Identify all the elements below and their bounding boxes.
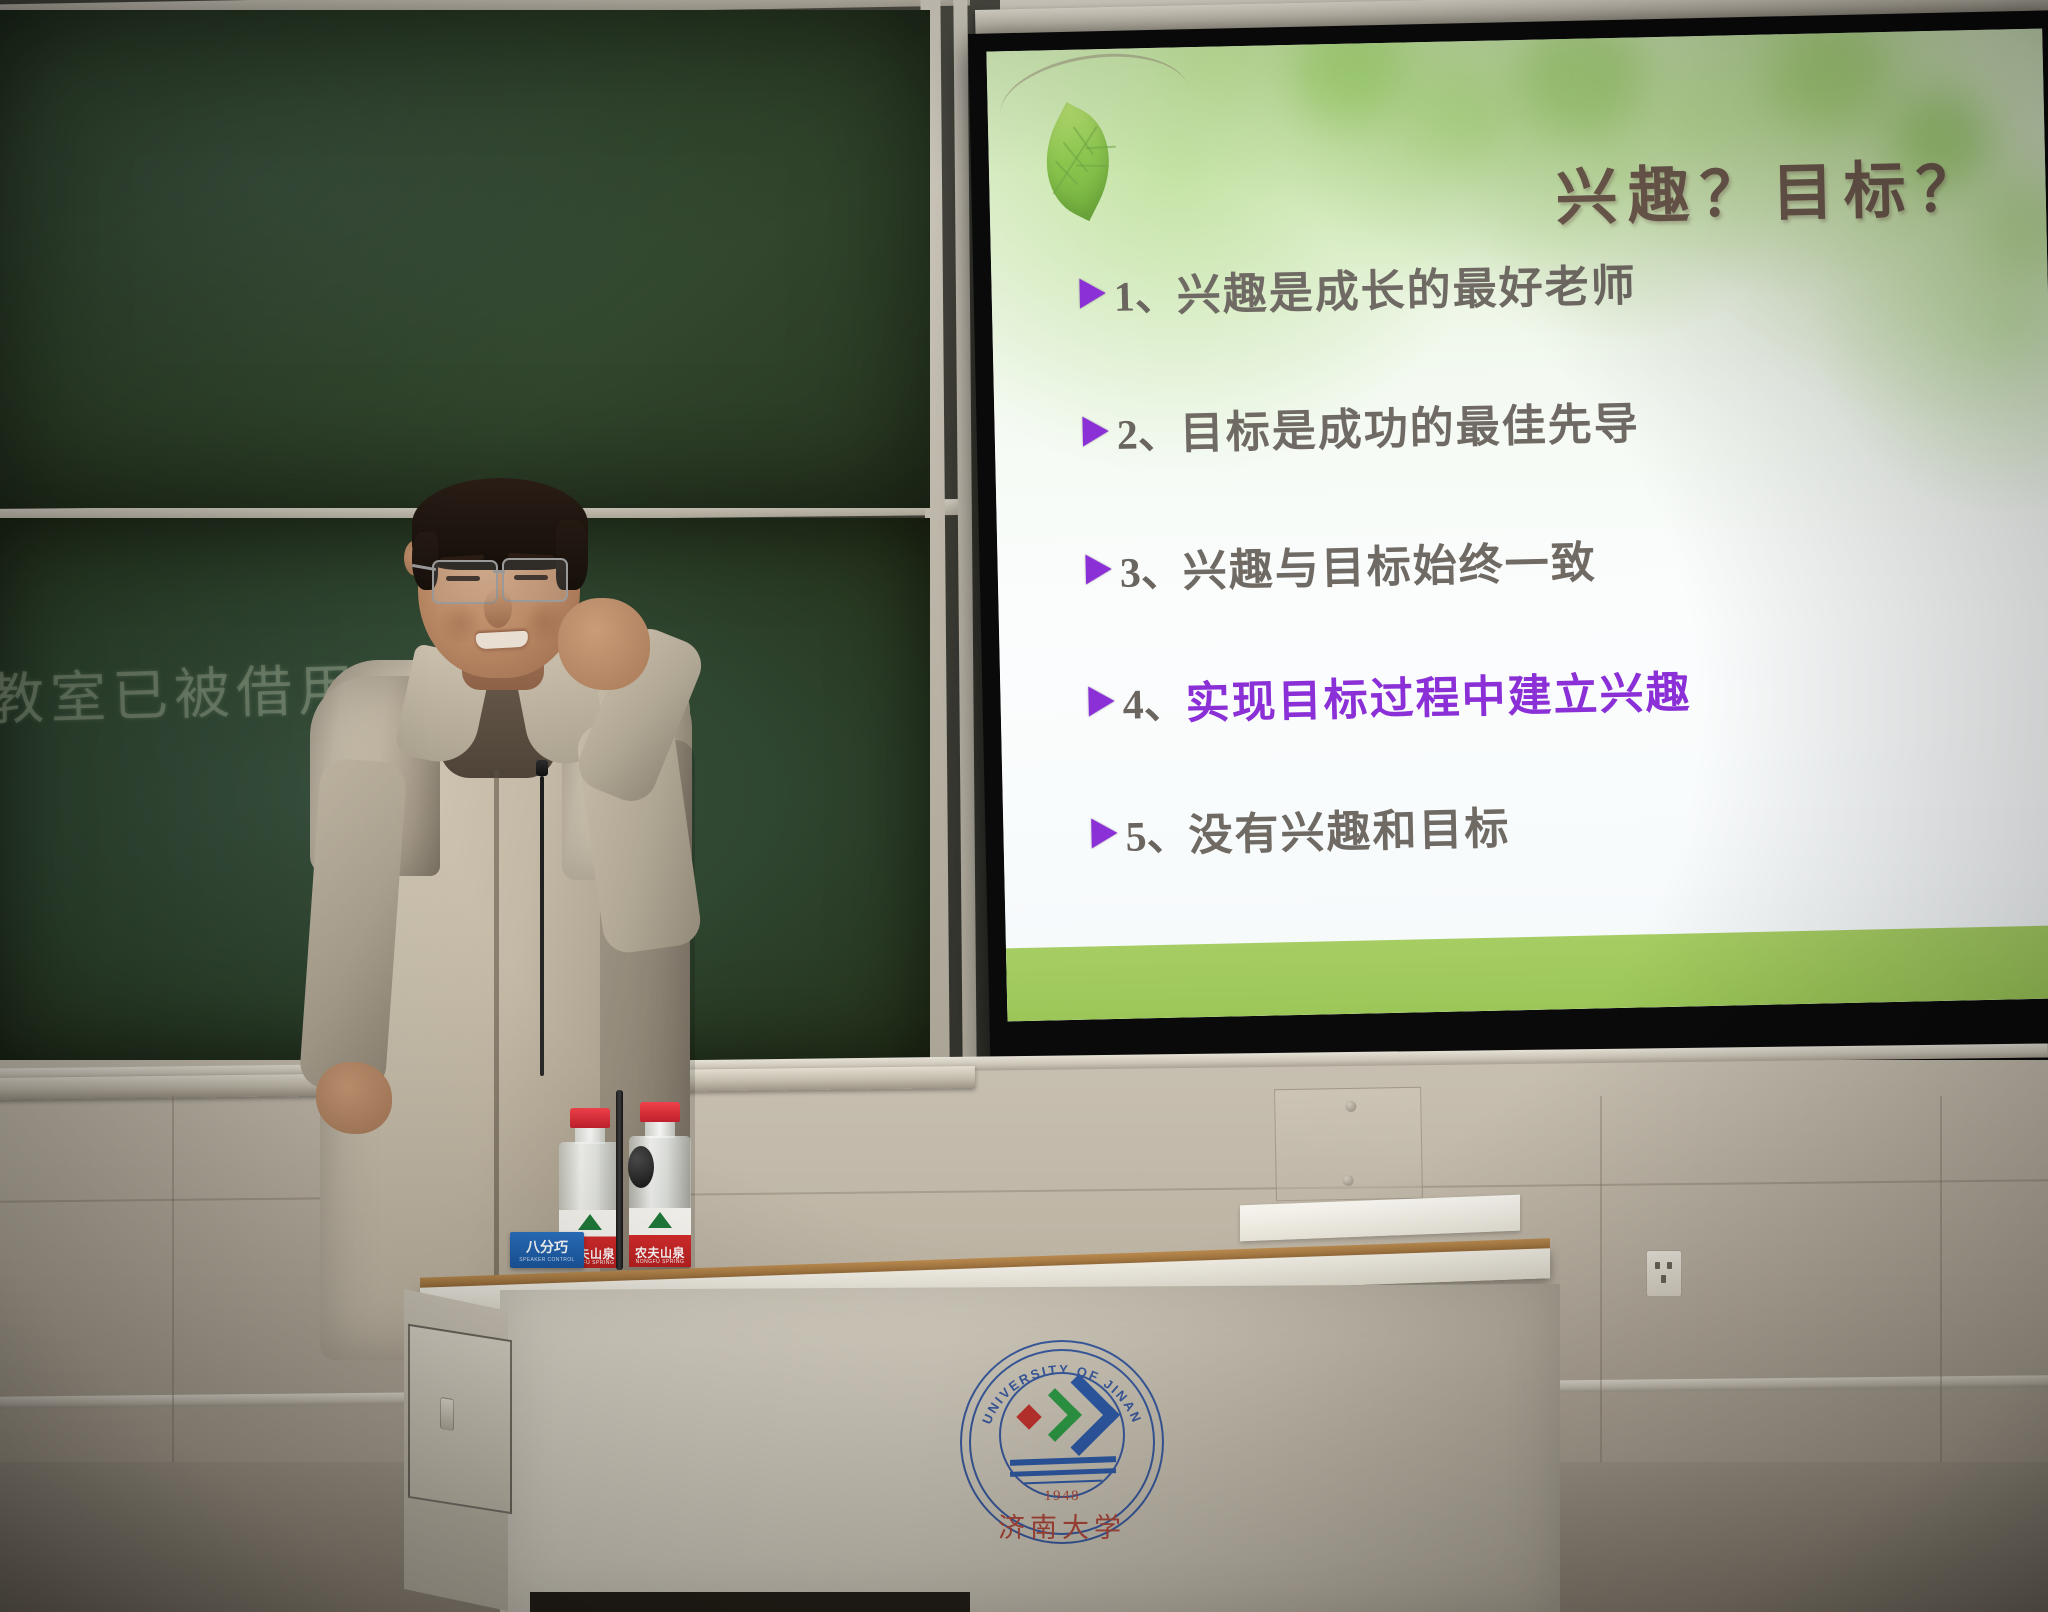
slide-bullet-1: 1、 兴趣是成长的最好老师 bbox=[1079, 249, 1637, 325]
bullet-label: 目标是成功的最佳先导 bbox=[1179, 387, 1640, 461]
placard-text-cn: 八分巧 bbox=[526, 1237, 568, 1257]
slide-bullet-3: 3、 兴趣与目标始终一致 bbox=[1085, 526, 1597, 601]
outlet-slot bbox=[1661, 1275, 1666, 1283]
bottle-cap bbox=[570, 1108, 610, 1128]
microphone-head-icon bbox=[628, 1146, 654, 1188]
presentation-slide: 兴趣？目标？ 1、 兴趣是成长的最好老师 2、 目标是成功的最佳先导 3、 兴趣… bbox=[986, 29, 2048, 1022]
bullet-label: 兴趣与目标始终一致 bbox=[1182, 526, 1597, 599]
slide-bottom-band bbox=[1006, 926, 2048, 1022]
emblem-year: 1948 bbox=[962, 1488, 1162, 1505]
arrow-bullet-icon bbox=[1079, 278, 1106, 309]
microphone-stand bbox=[616, 1090, 623, 1270]
bokeh-blob bbox=[1516, 29, 1649, 140]
arrow-bullet-icon bbox=[1085, 554, 1112, 585]
slide-title: 兴趣？目标？ bbox=[1555, 138, 1989, 237]
bullet-number: 1、 bbox=[1113, 261, 1177, 323]
glasses-lens-right bbox=[502, 558, 568, 602]
panel-handle[interactable] bbox=[440, 1397, 454, 1431]
bullet-number: 5、 bbox=[1125, 801, 1189, 863]
bullet-label-highlighted: 实现目标过程中建立兴趣 bbox=[1185, 656, 1692, 731]
leaf-vein bbox=[1055, 160, 1078, 184]
arrow-bullet-icon bbox=[1091, 818, 1118, 849]
bottle-brand-en: NONGFU SPRING bbox=[636, 1259, 685, 1265]
bullet-label: 没有兴趣和目标 bbox=[1188, 792, 1511, 863]
leaf-vein bbox=[1086, 146, 1116, 149]
leaf-vein bbox=[1073, 127, 1094, 156]
bokeh-blob bbox=[1286, 29, 1408, 125]
mountain-logo-icon bbox=[648, 1212, 672, 1228]
slide-bullet-2: 2、 目标是成功的最佳先导 bbox=[1082, 387, 1640, 463]
arrow-bullet-icon bbox=[1082, 416, 1109, 447]
wall-power-outlet[interactable] bbox=[1646, 1250, 1682, 1297]
microphone-wire bbox=[540, 776, 544, 1076]
projection-screen-surface: 兴趣？目标？ 1、 兴趣是成长的最好老师 2、 目标是成功的最佳先导 3、 兴趣… bbox=[986, 29, 2048, 1022]
outlet-slot bbox=[1655, 1262, 1660, 1269]
presenter-nose bbox=[484, 588, 512, 628]
classroom-scene: 教室已被借用 bbox=[0, 0, 2048, 1612]
placard-text-en: SPEAKER CONTROL bbox=[519, 1257, 574, 1263]
wall-access-panel bbox=[1274, 1087, 1423, 1202]
blackboard-upper-panel bbox=[0, 10, 930, 508]
podium-side-access-panel[interactable] bbox=[408, 1324, 512, 1514]
panel-screw bbox=[1345, 1101, 1356, 1112]
bokeh-blob bbox=[1776, 29, 1893, 130]
bottle-brand-cn: 农夫山泉 bbox=[635, 1247, 685, 1259]
glasses-bridge bbox=[493, 570, 505, 573]
podium-lower-slot bbox=[530, 1592, 970, 1612]
panel-screw bbox=[1343, 1175, 1354, 1186]
arrow-bullet-icon bbox=[1088, 686, 1115, 717]
university-emblem: UNIVERSITY OF JINAN 1948 济南大学 bbox=[960, 1340, 1164, 1544]
lapel-microphone-icon bbox=[536, 760, 548, 776]
mountain-logo-icon bbox=[578, 1214, 602, 1230]
bullet-label: 兴趣是成长的最好老师 bbox=[1176, 249, 1637, 323]
bullet-number: 2、 bbox=[1116, 399, 1180, 461]
bokeh-blob bbox=[1407, 70, 1499, 157]
leaf-vein bbox=[1053, 126, 1098, 194]
bottle-label: 农夫山泉 NONGFU SPRING bbox=[629, 1208, 691, 1267]
outlet-slot bbox=[1667, 1262, 1672, 1269]
slide-bullet-5: 5、 没有兴趣和目标 bbox=[1091, 792, 1511, 865]
blue-placard[interactable]: 八分巧 SPEAKER CONTROL bbox=[510, 1232, 584, 1268]
slide-bullet-4: 4、 实现目标过程中建立兴趣 bbox=[1088, 656, 1692, 733]
bottle-cap bbox=[640, 1102, 680, 1122]
emblem-chinese-name: 济南大学 bbox=[962, 1506, 1162, 1545]
bullet-number: 3、 bbox=[1119, 537, 1183, 599]
bullet-number: 4、 bbox=[1122, 669, 1186, 731]
projection-screen-border: 兴趣？目标？ 1、 兴趣是成长的最好老师 2、 目标是成功的最佳先导 3、 兴趣… bbox=[968, 10, 2048, 1082]
presenter-mouth bbox=[476, 631, 529, 650]
presenter-jacket-placket bbox=[494, 770, 499, 1330]
